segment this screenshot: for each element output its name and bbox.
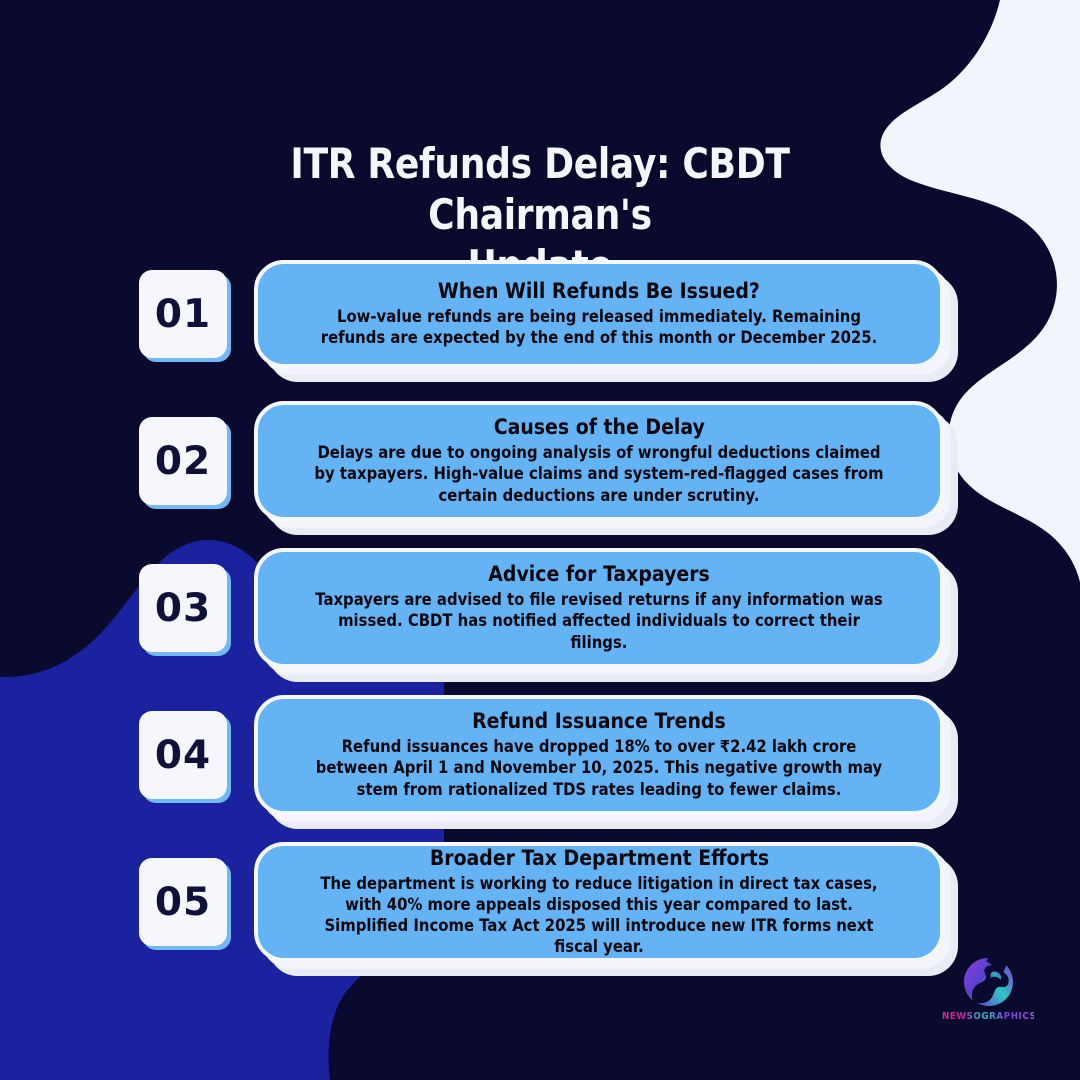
logo-wordmark: NEWSOGRAPHICS [942, 1011, 1034, 1022]
card-face: Advice for Taxpayers Taxpayers are advis… [254, 548, 944, 668]
card-face: Broader Tax Department Efforts The depar… [254, 842, 944, 962]
list-item[interactable]: 03 Advice for Taxpayers Taxpayers are ad… [0, 546, 1080, 670]
badge-face: 01 [139, 270, 227, 358]
card-title: Broader Tax Department Efforts [429, 847, 768, 870]
badge-face: 04 [139, 711, 227, 799]
list-item[interactable]: 05 Broader Tax Department Efforts The de… [0, 840, 1080, 964]
step-number-badge: 05 [139, 858, 227, 946]
card-face: Causes of the Delay Delays are due to on… [254, 401, 944, 521]
card-title: Advice for Taxpayers [488, 563, 709, 586]
step-number-badge: 01 [139, 270, 227, 358]
step-number-badge: 03 [139, 564, 227, 652]
badge-face: 03 [139, 564, 227, 652]
point-card[interactable]: When Will Refunds Be Issued? Low-value r… [254, 260, 944, 368]
card-body: Refund issuances have dropped 18% to ove… [312, 736, 886, 799]
card-face: Refund Issuance Trends Refund issuances … [254, 695, 944, 815]
points-list: 01 When Will Refunds Be Issued? Low-valu… [0, 252, 1080, 987]
infographic-canvas: ITR Refunds Delay: CBDT Chairman's Updat… [0, 0, 1080, 1080]
badge-number: 04 [155, 733, 211, 778]
card-body: The department is working to reduce liti… [312, 873, 886, 957]
point-card[interactable]: Advice for Taxpayers Taxpayers are advis… [254, 548, 944, 668]
badge-face: 02 [139, 417, 227, 505]
card-title: Refund Issuance Trends [472, 710, 726, 733]
card-body: Taxpayers are advised to file revised re… [312, 589, 886, 652]
point-card[interactable]: Causes of the Delay Delays are due to on… [254, 401, 944, 521]
list-item[interactable]: 01 When Will Refunds Be Issued? Low-valu… [0, 252, 1080, 376]
list-item[interactable]: 04 Refund Issuance Trends Refund issuanc… [0, 693, 1080, 817]
card-title: When Will Refunds Be Issued? [438, 280, 760, 303]
badge-number: 01 [155, 292, 211, 337]
card-face: When Will Refunds Be Issued? Low-value r… [254, 260, 944, 368]
badge-face: 05 [139, 858, 227, 946]
brand-logo: NEWSOGRAPHICS [938, 955, 1038, 1022]
badge-number: 05 [155, 880, 211, 925]
list-item[interactable]: 02 Causes of the Delay Delays are due to… [0, 399, 1080, 523]
step-number-badge: 02 [139, 417, 227, 505]
point-card[interactable]: Broader Tax Department Efforts The depar… [254, 842, 944, 962]
globe-icon [961, 955, 1015, 1009]
card-body: Delays are due to ongoing analysis of wr… [312, 442, 886, 505]
badge-number: 02 [155, 439, 211, 484]
card-body: Low-value refunds are being released imm… [312, 306, 886, 348]
badge-number: 03 [155, 586, 211, 631]
step-number-badge: 04 [139, 711, 227, 799]
point-card[interactable]: Refund Issuance Trends Refund issuances … [254, 695, 944, 815]
card-title: Causes of the Delay [493, 416, 704, 439]
